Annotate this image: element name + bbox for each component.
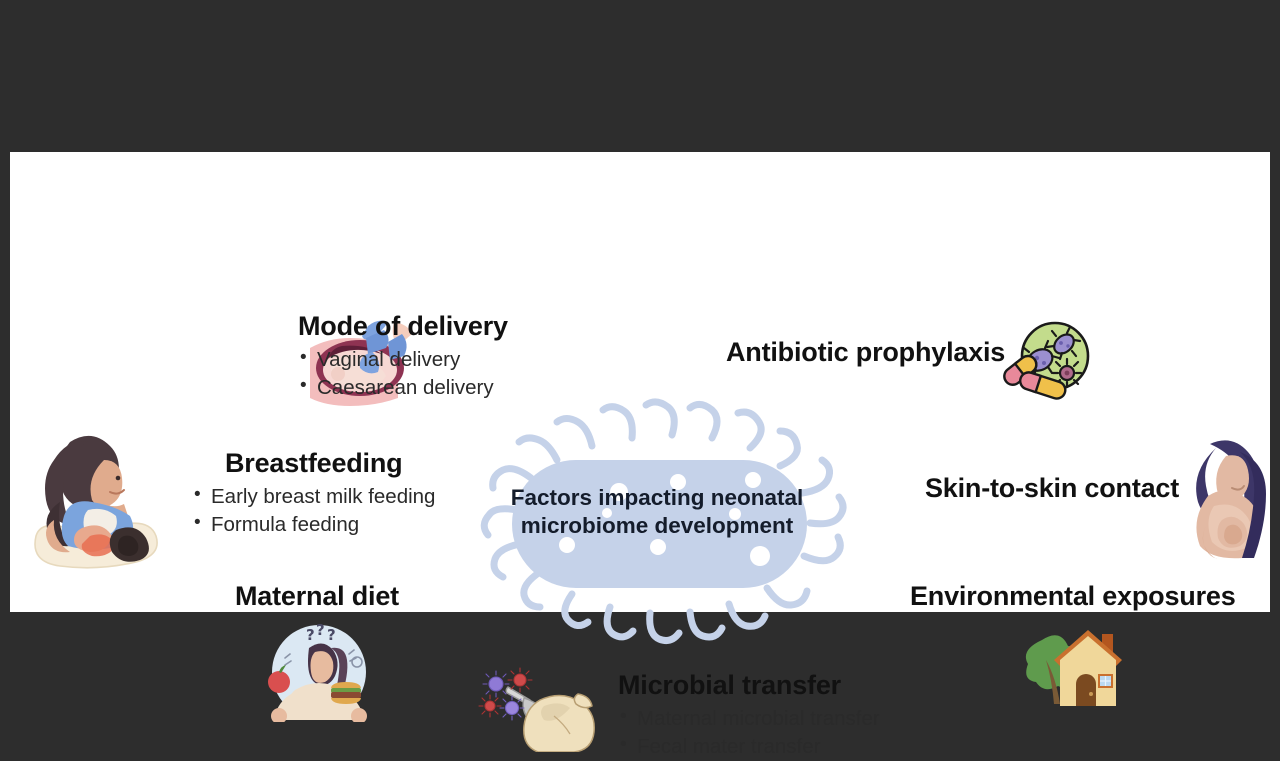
breastfeeding-mother-icon [24,424,164,570]
environmental-exposures-block: Environmental exposures [910,582,1236,612]
svg-text:?: ? [316,621,325,639]
microbial-transfer-heading: Microbial transfer [618,671,880,701]
list-item: Formula feeding [192,511,435,539]
hand-with-swab-icon [468,664,596,752]
slide-canvas: Factors impacting neonatal microbiome de… [0,0,1280,761]
breastfeeding-heading: Breastfeeding [192,449,435,479]
mode-of-delivery-block: Mode of delivery Vaginal delivery Caesar… [298,312,508,401]
mode-of-delivery-bullets: Vaginal delivery Caesarean delivery [298,346,508,402]
list-item: Vaginal delivery [298,346,508,374]
skin-to-skin-contact-block: Skin-to-skin contact [925,474,1179,504]
environmental-exposures-heading: Environmental exposures [910,582,1236,612]
breastfeeding-block: Breastfeeding Early breast milk feeding … [192,449,435,538]
maternal-diet-heading: Maternal diet [235,582,399,612]
mode-of-delivery-heading: Mode of delivery [298,312,508,342]
breastfeeding-bullets: Early breast milk feeding Formula feedin… [192,483,435,539]
maternal-diet-block: Maternal diet [235,582,399,612]
antibiotic-prophylaxis-heading: Antibiotic prophylaxis [726,338,1005,368]
central-bacterium-graphic: Factors impacting neonatal microbiome de… [447,398,867,648]
house-with-tree-icon [1010,616,1138,720]
skin-to-skin-contact-heading: Skin-to-skin contact [925,474,1179,504]
list-item: Caesarean delivery [298,374,508,402]
figure-panel: Factors impacting neonatal microbiome de… [10,152,1270,612]
list-item: Early breast milk feeding [192,483,435,511]
microbial-transfer-block: Microbial transfer Maternal microbial tr… [618,671,880,760]
microbial-transfer-bullets: Maternal microbial transfer Fecal mater … [618,705,880,761]
woman-choosing-food-icon: ??? [257,618,381,722]
list-item: Maternal microbial transfer [618,705,880,733]
svg-text:?: ? [327,626,336,644]
mother-holding-baby-icon [1188,434,1278,559]
antibiotic-prophylaxis-block: Antibiotic prophylaxis [726,338,1005,368]
bacteria-and-pills-icon [998,318,1096,406]
svg-text:?: ? [306,626,315,644]
list-item: Fecal mater transfer [618,733,880,761]
